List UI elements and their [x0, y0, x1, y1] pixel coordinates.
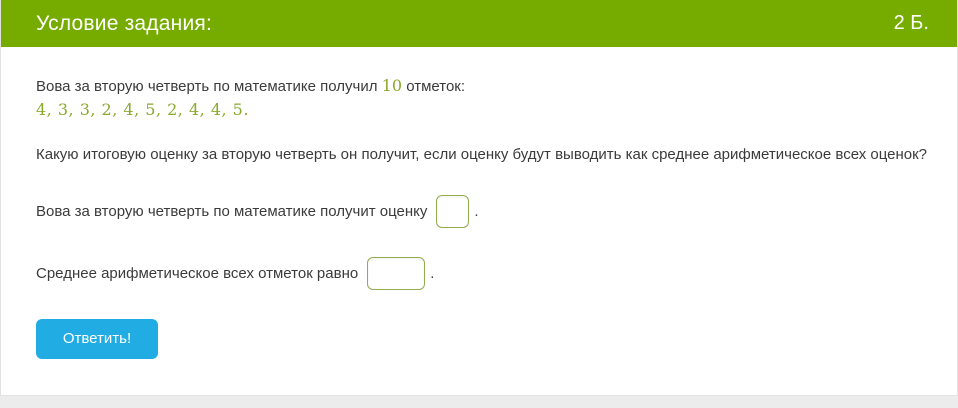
marks-list-value: 4, 3, 3, 2, 4, 5, 2, 4, 4, 5. [36, 100, 249, 119]
task-card: Условие задания: 2 Б. Вова за вторую чет… [0, 0, 958, 396]
statement-question: Какую итоговую оценку за вторую четверть… [36, 144, 927, 166]
statement-intro-before: Вова за вторую четверть по математике по… [36, 78, 378, 95]
answer-period-grade: . [474, 201, 478, 223]
task-body: Вова за вторую четверть по математике по… [1, 47, 957, 359]
page-title: Условие задания: [36, 0, 212, 47]
page-root: Условие задания: 2 Б. Вова за вторую чет… [0, 0, 958, 408]
task-header: Условие задания: 2 Б. [1, 0, 957, 47]
answer-input-mean[interactable] [367, 257, 425, 290]
answer-period-mean: . [430, 263, 434, 285]
points-badge: 2 Б. [894, 0, 929, 47]
answer-line-mean: Среднее арифметическое всех отметок равн… [36, 257, 927, 290]
submit-answer-button[interactable]: Ответить! [36, 319, 158, 359]
statement-intro-after: отметок: [406, 78, 465, 95]
answer-input-grade[interactable] [436, 195, 469, 228]
statement-intro: Вова за вторую четверть по математике по… [36, 75, 927, 98]
marks-count-value: 10 [382, 76, 402, 95]
answer-label-grade: Вова за вторую четверть по математике по… [36, 201, 427, 223]
answer-label-mean: Среднее арифметическое всех отметок равн… [36, 263, 358, 285]
marks-list-line: 4, 3, 3, 2, 4, 5, 2, 4, 4, 5. [36, 99, 927, 122]
answer-line-grade: Вова за вторую четверть по математике по… [36, 195, 927, 228]
submit-row: Ответить! [36, 319, 927, 359]
